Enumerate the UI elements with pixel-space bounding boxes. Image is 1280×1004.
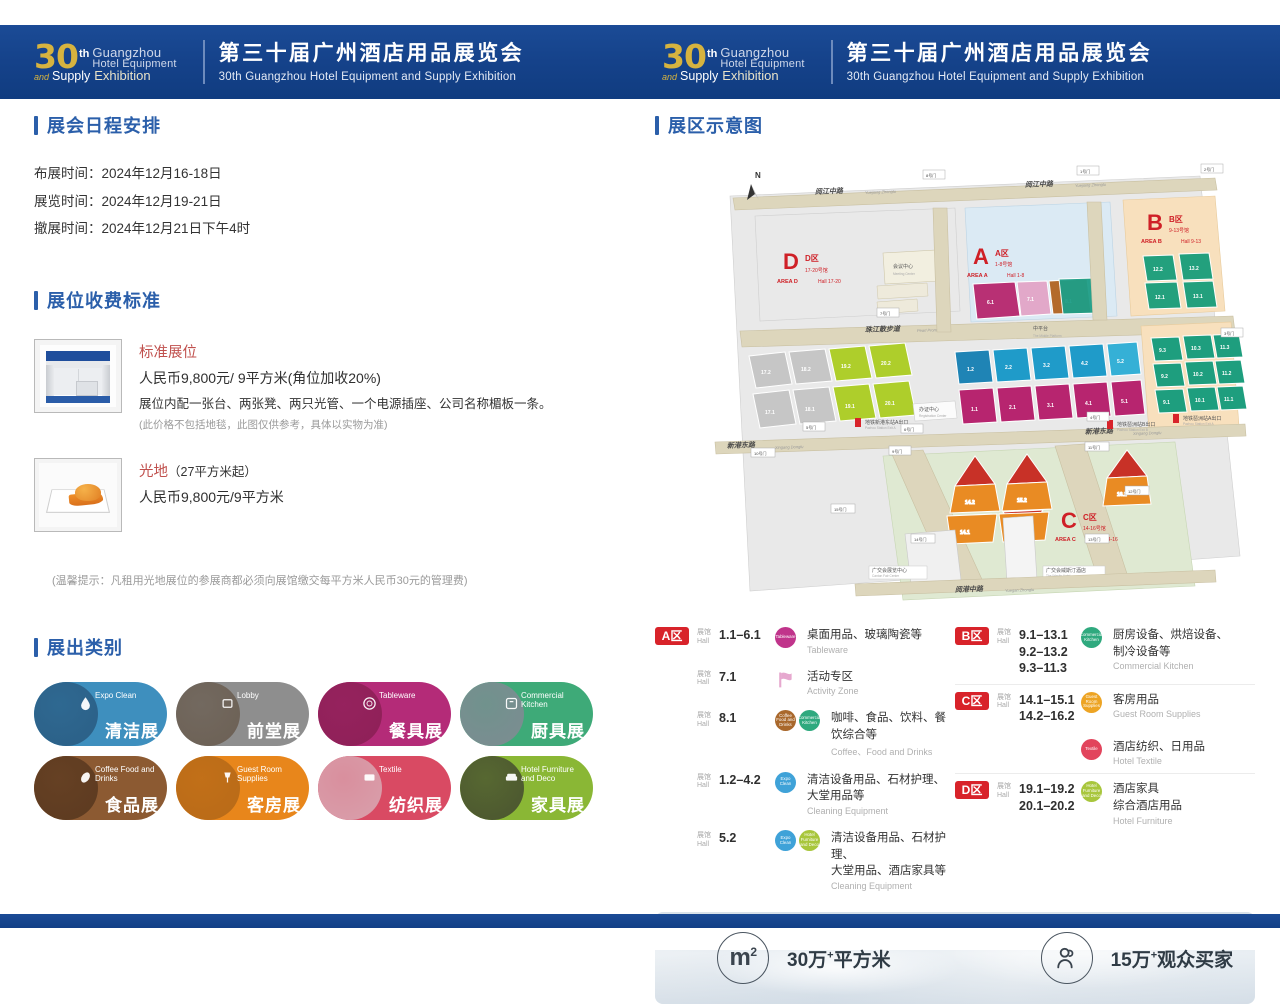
icon-label: Hotel Furniture and Deco <box>799 833 820 848</box>
hall-numbers: 9.1–13.19.2–13.29.3–11.3 <box>1019 627 1081 677</box>
gate-marker: 5号门 <box>803 422 825 431</box>
hall-legend: A区 展馆Hall 1.1–6.1 Tableware 桌面用品、玻璃陶瓷等 T… <box>655 620 1255 898</box>
landmark-canton-cn: 广交会展览中心 <box>872 567 907 574</box>
gate-marker: 7号门 <box>877 308 899 317</box>
icon-label: Expo Clean <box>775 836 796 846</box>
categories-grid: Expo Clean 清洁展 Lobby 前堂展 Tableware 餐具展 C… <box>34 682 624 820</box>
gate-marker: 1号门 <box>1077 166 1099 175</box>
hall-label: 3.1 <box>1047 403 1054 409</box>
category-tile-guestroom[interactable]: Guest Room Supplies 客房展 <box>176 756 309 820</box>
hall-label: 11.1 <box>1224 397 1234 403</box>
fees-heading: 展位收费标准 <box>34 287 624 313</box>
legend-text-en: Hotel Textile <box>1113 756 1255 766</box>
logo-word-supply: Supply <box>52 70 90 83</box>
category-label-en: Expo Clean <box>95 691 157 700</box>
header-divider <box>831 40 833 84</box>
header-divider <box>203 40 205 84</box>
category-photo <box>318 756 382 820</box>
metro-exit-en: Pazhou Station Exit A <box>865 426 897 430</box>
hall-word: 展馆Hall <box>697 830 713 850</box>
plate-icon <box>362 696 377 711</box>
hall-label: 2.2 <box>1005 365 1012 371</box>
categories-heading-text: 展出类别 <box>47 634 123 660</box>
hall-label: 10.1 <box>1195 398 1205 404</box>
hall-label: 4.2 <box>1081 361 1088 367</box>
legend-icons: Expo Clean Hotel Furniture and Deco <box>775 830 823 851</box>
category-label-en: Guest Room Supplies <box>237 765 299 783</box>
category-photo <box>176 756 240 820</box>
gate-label: 14号门 <box>914 536 926 542</box>
metro-exit-cn: 地铁琶洲站B出口 <box>1117 421 1155 428</box>
hall-label: 17.2 <box>761 370 771 376</box>
legend-text-en: Cleaning Equipment <box>831 881 955 891</box>
legend-text-cn: 清洁设备用品、石材护理、大堂用品、酒店家具等 <box>831 830 955 880</box>
legend-text-en: Guest Room Supplies <box>1113 709 1255 719</box>
category-label-en: Commercial Kitchen <box>521 691 583 709</box>
metro-exit-cn: 地铁琶洲站A出口 <box>1183 415 1221 422</box>
header-banner-left: 30 th Guangzhou Hotel Equipment and Supp… <box>0 25 640 99</box>
fee-standard-booth: 标准展位 人民币9,800元/ 9平方米(角位加收20%) 展位内配一张台、两张… <box>34 339 624 432</box>
logo-word-exhibition: Exhibition <box>94 69 150 82</box>
expo-clean-icon: Expo Clean <box>775 830 796 851</box>
fee-standard-desc: 展位内配一张台、两张凳、两只光管、一个电源插座、公司名称楣板一条。 <box>139 393 552 412</box>
stat-unit: 平方米 <box>834 950 891 971</box>
person-glyph <box>1053 944 1081 972</box>
commercial-kitchen-icon: Commercial Kitchen <box>799 710 820 731</box>
fee-raw-name-sub: （27平方米起） <box>168 465 257 479</box>
icon-label: Commercial Kitchen <box>798 716 821 726</box>
standard-booth-icon <box>34 339 122 413</box>
hall-word: 展馆Hall <box>997 627 1013 647</box>
legend-text-en: Coffee、Food and Drinks <box>831 745 955 758</box>
right-column: 展区示意图 .rd{fill:#ddd6bc;stroke:#c9c0a2;st… <box>655 112 1255 1004</box>
road-label-en: Xingang Donglu <box>774 444 804 450</box>
logo-word-and: and <box>662 73 677 82</box>
heading-accent-bar <box>655 116 659 135</box>
bed-lamp-icon <box>220 770 235 785</box>
logo-word-and: and <box>34 73 49 82</box>
logo-number: 30 <box>34 42 78 72</box>
visitor-icon <box>1041 932 1093 984</box>
hall-label: 12.1 <box>1155 295 1165 301</box>
zone-badge-empty <box>655 830 689 848</box>
gate-label: 8号门 <box>926 172 936 178</box>
legend-row: C区 展馆Hall 14.1–15.114.2–16.2 Guest Room … <box>955 684 1255 732</box>
top-white-strip <box>0 0 1280 25</box>
category-photo <box>460 682 524 746</box>
icon-label: Commercial Kitchen <box>1080 633 1103 643</box>
raw-space-icon <box>34 458 122 532</box>
gate-marker: 11号门 <box>1085 442 1109 451</box>
legend-icons: Commercial Kitchen <box>1081 627 1105 648</box>
hall-label: 10.2 <box>1193 372 1203 378</box>
hall-label: 14.2 <box>965 500 975 506</box>
stat-area-text: 30万+平方米 <box>787 945 891 972</box>
gate-label: 6号门 <box>904 426 914 432</box>
stat-value: 15万 <box>1111 950 1151 971</box>
legend-icons: Tableware <box>775 627 799 648</box>
icon-label: Guest Room Supplies <box>1081 695 1102 710</box>
logo-word-hotel-equipment: Hotel Equipment <box>720 59 804 70</box>
logo-word-supply: Supply <box>680 70 718 83</box>
area-en-A: AREA A <box>967 273 988 279</box>
logo-word-hotel-equipment: Hotel Equipment <box>92 59 176 70</box>
heading-accent-bar <box>34 116 38 135</box>
hall-numbers: 1.1–6.1 <box>719 627 775 644</box>
category-photo <box>176 682 240 746</box>
legend-text-cn: 客房用品 <box>1113 692 1255 709</box>
category-label-en: Hotel Furniture and Deco <box>521 765 583 783</box>
metro-exit-en: Pazhou Station Exit B <box>1117 428 1148 432</box>
towel-icon <box>362 770 377 785</box>
coffee-bean-icon <box>78 770 93 785</box>
category-photo <box>34 682 98 746</box>
legend-text-cn: 酒店家具综合酒店用品 <box>1113 781 1255 814</box>
hall-numbers: 19.1–19.220.1–20.2 <box>1019 781 1081 814</box>
road-label-cn: 阅江中路 <box>815 186 844 196</box>
hall-label: 11.3 <box>1220 345 1230 351</box>
category-label-cn: 纺织展 <box>389 791 443 816</box>
gate-label: 12号门 <box>1128 488 1140 494</box>
header-title-cn: 第三十届广州酒店用品展览会 <box>847 41 1153 67</box>
logo-word-exhibition: Exhibition <box>722 69 778 82</box>
icon-label: Coffee Food and Drinks <box>775 714 796 729</box>
zone-badge-empty <box>655 669 689 687</box>
hall-label: 10.3 <box>1191 346 1201 352</box>
hall-label: 7.1 <box>1027 297 1034 303</box>
kitchen-icon <box>504 696 519 711</box>
zone-badge-C: C区 <box>955 692 989 710</box>
zone-badge-A: A区 <box>655 627 689 645</box>
legend-row: 展馆Hall 1.2–4.2 Expo Clean 清洁设备用品、石材护理、大堂… <box>655 765 955 823</box>
landmark-middle-platform-cn: 中平台 <box>1033 325 1048 332</box>
landmark-middle-platform-en: The Middle Platform <box>1033 334 1062 338</box>
area-cn-C: C区 <box>1083 513 1097 522</box>
stat-visitors: 15万+观众买家 <box>1041 932 1234 984</box>
icon-label: Textile <box>1085 747 1097 752</box>
heading-accent-bar <box>34 638 38 657</box>
gate-label: 9号门 <box>892 448 902 454</box>
legend-row: D区 展馆Hall 19.1–19.220.1–20.2 Hotel Furni… <box>955 773 1255 832</box>
legend-column-left: A区 展馆Hall 1.1–6.1 Tableware 桌面用品、玻璃陶瓷等 T… <box>655 620 955 898</box>
guest-room-supplies-icon: Guest Room Supplies <box>1081 692 1102 713</box>
fee-standard-note: (此价格不包括地毯，此图仅供参考，具体以实物为准) <box>139 417 552 432</box>
header-title-en: 30th Guangzhou Hotel Equipment and Suppl… <box>219 71 525 83</box>
stat-unit: 观众买家 <box>1157 950 1233 971</box>
legend-text-en: Commercial Kitchen <box>1113 661 1255 671</box>
schedule-heading: 展会日程安排 <box>34 112 624 138</box>
gate-label: 1号门 <box>1080 168 1090 174</box>
category-label-cn: 食品展 <box>105 791 159 816</box>
schedule-item: 布展时间：2024年12月16-18日 <box>34 160 624 188</box>
category-label-en: Coffee Food and Drinks <box>95 765 157 783</box>
gate-label: 7号门 <box>880 310 890 316</box>
category-photo <box>34 756 98 820</box>
hall-label: 15.2 <box>1017 498 1027 504</box>
square-meter-icon: m2 <box>717 932 769 984</box>
legend-row: 展馆Hall 7.1 活动专区 Activity Zone <box>655 662 955 704</box>
zone-badge-B: B区 <box>955 627 989 645</box>
hall-numbers: 7.1 <box>719 669 775 686</box>
legend-text-cn: 清洁设备用品、石材护理、大堂用品等 <box>807 772 955 805</box>
area-letter-B: B <box>1147 210 1163 235</box>
gate-label: 4号门 <box>1090 414 1100 420</box>
category-label-cn: 厨具展 <box>531 717 585 742</box>
hall-label: 14.1 <box>960 530 970 536</box>
category-tile-textile[interactable]: Textile 纺织展 <box>318 756 451 820</box>
hall-numbers: 14.1–15.114.2–16.2 <box>1019 692 1081 725</box>
category-tile-clean[interactable]: Expo Clean 清洁展 <box>34 682 167 746</box>
area-halls-cn-A: 1-8号馆 <box>995 261 1012 268</box>
gate-label: 15号门 <box>834 506 846 512</box>
exhibition-logo-secondary: 30 th Guangzhou Hotel Equipment and Supp… <box>662 42 817 82</box>
hall-label: 20.1 <box>885 401 895 407</box>
legend-column-right: B区 展馆Hall 9.1–13.19.2–13.29.3–11.3 Comme… <box>955 620 1255 898</box>
legend-text-cn: 厨房设备、烘焙设备、制冷设备等 <box>1113 627 1255 660</box>
stat-value: 30万 <box>787 950 827 971</box>
logo-word-guangzhou: Guangzhou <box>92 46 176 59</box>
legend-icons: Guest Room Supplies <box>1081 692 1105 713</box>
hall-label: 17.1 <box>765 410 775 416</box>
map-heading-text: 展区示意图 <box>668 112 763 138</box>
category-label-en: Tableware <box>379 691 441 700</box>
schedule-heading-text: 展会日程安排 <box>47 112 161 138</box>
legend-text-en: Activity Zone <box>807 686 955 696</box>
gate-label: 2号门 <box>1204 166 1214 172</box>
gate-marker: 3号门 <box>1221 328 1243 337</box>
gate-marker: 9号门 <box>889 446 911 455</box>
hall-label: 20.2 <box>881 361 891 367</box>
area-cn-A: A区 <box>995 249 1009 258</box>
hall-word: 展馆Hall <box>697 669 713 689</box>
area-halls-en-A: Hall 1-8 <box>1007 273 1024 279</box>
landmark-westin-cn: 广交会威斯汀酒店 <box>1046 567 1086 574</box>
category-label-en: Lobby <box>237 691 299 700</box>
metro-exit-en: Pazhou Station Exit A <box>1183 422 1215 426</box>
tableware-icon: Tableware <box>775 627 796 648</box>
schedule-item: 展览时间：2024年12月19-21日 <box>34 188 624 216</box>
legend-text-en: Cleaning Equipment <box>807 806 955 816</box>
activity-flag-icon <box>775 669 796 690</box>
category-tile-food[interactable]: Coffee Food and Drinks 食品展 <box>34 756 167 820</box>
hall-word <box>997 739 1013 741</box>
area-en-C: AREA C <box>1055 537 1076 543</box>
area-en-D: AREA D <box>777 279 798 285</box>
zone-badge-empty <box>655 772 689 790</box>
category-tile-tableware[interactable]: Tableware 餐具展 <box>318 682 451 746</box>
fee-raw-price: 人民币9,800元/9平方米 <box>139 487 284 507</box>
hall-label: 1.2 <box>967 367 974 373</box>
logo-number: 30 <box>662 42 706 72</box>
legend-icons: Hotel Furniture and Deco <box>1081 781 1105 802</box>
stat-area: m2 30万+平方米 <box>717 932 891 984</box>
legend-row: 展馆Hall 5.2 Expo Clean Hotel Furniture an… <box>655 823 955 898</box>
area-cn-D: D区 <box>805 254 819 263</box>
hall-label: 9.3 <box>1159 348 1166 354</box>
legend-text-en: Hotel Furniture <box>1113 816 1255 826</box>
fee-tip-note: (温馨提示：凡租用光地展位的参展商都必须向展馆缴交每平方米人民币30元的管理费) <box>52 572 624 588</box>
footer-blue-bar <box>0 914 1280 928</box>
landmark-registration-cn: 办证中心 <box>919 406 939 413</box>
area-halls-cn-C: 14-16号馆 <box>1083 525 1106 532</box>
gate-marker: 14号门 <box>911 534 935 543</box>
gate-marker: 8号门 <box>923 170 945 179</box>
landmark-meeting-center-cn: 会议中心 <box>893 263 913 270</box>
landmark-canton-fair: 广交会展览中心 Canton Fair Center <box>869 566 927 579</box>
legend-row: B区 展馆Hall 9.1–13.19.2–13.29.3–11.3 Comme… <box>955 620 1255 684</box>
gate-marker: 12号门 <box>1125 486 1149 495</box>
hall-label: 2.1 <box>1009 405 1016 411</box>
hall-numbers: 5.2 <box>719 830 775 847</box>
hall-label: 5.2 <box>1117 359 1124 365</box>
gate-label: 13号门 <box>1088 536 1100 542</box>
legend-row: Textile 酒店纺织、日用品 Hotel Textile <box>955 732 1255 774</box>
category-label-en: Textile <box>379 765 441 774</box>
luggage-cart-icon <box>220 696 235 711</box>
gate-label: 10号门 <box>754 450 766 456</box>
stat-visitors-text: 15万+观众买家 <box>1111 945 1234 972</box>
header-title-cn: 第三十届广州酒店用品展览会 <box>219 41 525 67</box>
gate-marker: 6号门 <box>901 424 923 433</box>
landmark-canton-en: Canton Fair Center <box>872 574 900 578</box>
legend-icons: Expo Clean <box>775 772 799 793</box>
category-tile-furniture[interactable]: Hotel Furniture and Deco 家具展 <box>460 756 593 820</box>
compass-label: N <box>755 171 761 180</box>
hall-numbers: 1.2–4.2 <box>719 772 775 789</box>
area-letter-C: C <box>1061 508 1077 533</box>
zone-badge-empty <box>655 710 689 728</box>
fee-raw-name: 光地（27平方米起） <box>139 460 284 481</box>
header-banner-right: 30 th Guangzhou Hotel Equipment and Supp… <box>640 25 1280 99</box>
hall-label: 19.2 <box>841 364 851 370</box>
stat-sup: 2 <box>750 945 756 959</box>
hall-word: 展馆Hall <box>697 710 713 730</box>
coffee-icon: Coffee Food and Drinks <box>775 710 796 731</box>
category-photo <box>460 756 524 820</box>
hall-word: 展馆Hall <box>697 772 713 792</box>
legend-text-en: Tableware <box>807 645 955 655</box>
area-letter-D: D <box>783 249 799 274</box>
logo-word-guangzhou: Guangzhou <box>720 46 804 59</box>
legend-text-cn: 活动专区 <box>807 669 955 686</box>
hall-label: 5.1 <box>1121 399 1128 405</box>
gate-marker: 4号门 <box>1087 412 1109 421</box>
icon-label: Expo Clean <box>775 777 796 787</box>
category-label-cn: 餐具展 <box>389 717 443 742</box>
hall-label: 3.2 <box>1043 363 1050 369</box>
hall-label: 19.1 <box>845 404 855 410</box>
logo-ordinal: th <box>707 49 717 60</box>
hall-word: 展馆Hall <box>997 781 1013 801</box>
fee-standard-name: 标准展位 <box>139 341 552 362</box>
hall-label: 13.2 <box>1189 266 1199 272</box>
gate-label: 5号门 <box>806 424 816 430</box>
icon-label: Tableware <box>775 635 795 640</box>
hall-label: 18.1 <box>805 407 815 413</box>
category-photo <box>318 682 382 746</box>
commercial-kitchen-icon: Commercial Kitchen <box>1081 627 1102 648</box>
map-heading: 展区示意图 <box>655 112 1255 138</box>
area-halls-cn-B: 9-13号馆 <box>1169 227 1189 234</box>
area-cn-B: B区 <box>1169 215 1183 224</box>
water-drop-icon <box>78 696 93 711</box>
schedule-item: 撤展时间：2024年12月21日下午4时 <box>34 215 624 243</box>
hotel-furniture-icon: Hotel Furniture and Deco <box>1081 781 1102 802</box>
floor-plan-map[interactable]: .rd{fill:#ddd6bc;stroke:#c9c0a2;stroke-w… <box>655 156 1255 606</box>
hall-numbers: 8.1 <box>719 710 775 727</box>
exhibition-logo: 30 th Guangzhou Hotel Equipment and Supp… <box>34 42 189 82</box>
landmark-meeting-center-en: Meeting Center <box>893 272 916 276</box>
legend-icons: Textile <box>1081 739 1105 760</box>
gate-marker: 2号门 <box>1201 164 1223 173</box>
hall-label: 9.1 <box>1163 400 1170 406</box>
fee-raw-space: 光地（27平方米起） 人民币9,800元/9平方米 <box>34 458 624 532</box>
hall-label: 12.2 <box>1153 267 1163 273</box>
area-letter-A: A <box>973 244 989 269</box>
fees-heading-text: 展位收费标准 <box>47 287 161 313</box>
area-en-B: AREA B <box>1141 239 1162 245</box>
category-label-cn: 前堂展 <box>247 717 301 742</box>
area-halls-en-D: Hall 17-20 <box>818 279 841 285</box>
header-title-en: 30th Guangzhou Hotel Equipment and Suppl… <box>847 71 1153 83</box>
hall-label: 13.1 <box>1193 294 1203 300</box>
landmark-registration-en: Registration Center <box>919 414 947 418</box>
gate-marker: 13号门 <box>1085 534 1109 543</box>
schedule-list: 布展时间：2024年12月16-18日 展览时间：2024年12月19-21日 … <box>34 160 624 243</box>
sofa-icon <box>504 770 519 785</box>
area-halls-en-B: Hall 9-13 <box>1181 239 1201 245</box>
hall-label: 18.2 <box>801 367 811 373</box>
legend-text-cn: 酒店纺织、日用品 <box>1113 739 1255 756</box>
hall-label: 9.2 <box>1161 374 1168 380</box>
legend-icons: Coffee Food and Drinks Commercial Kitche… <box>775 710 823 731</box>
legend-icons <box>775 669 799 690</box>
category-label-cn: 客房展 <box>247 791 301 816</box>
category-tile-lobby[interactable]: Lobby 前堂展 <box>176 682 309 746</box>
hall-label: 11.2 <box>1222 371 1232 377</box>
hall-label: 6.1 <box>987 300 994 306</box>
zone-badge-D: D区 <box>955 781 989 799</box>
hotel-textile-icon: Textile <box>1081 739 1102 760</box>
category-tile-kitchen[interactable]: Commercial Kitchen 厨具展 <box>460 682 593 746</box>
gate-label: 11号门 <box>1088 444 1100 450</box>
legend-row: A区 展馆Hall 1.1–6.1 Tableware 桌面用品、玻璃陶瓷等 T… <box>655 620 955 662</box>
hall-word: 展馆Hall <box>997 692 1013 712</box>
gate-label: 3号门 <box>1224 330 1234 336</box>
floor-plan-svg: .rd{fill:#ddd6bc;stroke:#c9c0a2;stroke-w… <box>655 156 1255 606</box>
fee-raw-name-text: 光地 <box>139 464 168 480</box>
categories-heading: 展出类别 <box>34 634 624 660</box>
legend-row: 展馆Hall 8.1 Coffee Food and Drinks Commer… <box>655 703 955 764</box>
legend-text-cn: 桌面用品、玻璃陶瓷等 <box>807 627 955 644</box>
category-label-cn: 清洁展 <box>105 717 159 742</box>
legend-text-cn: 咖啡、食品、饮料、餐饮综合等 <box>831 710 955 743</box>
heading-accent-bar <box>34 291 38 310</box>
road-label-cn: 阅江中路 <box>1025 179 1054 189</box>
icon-label: Hotel Furniture and Deco <box>1081 784 1102 799</box>
zone-badge-empty <box>955 739 989 757</box>
hall-word: 展馆Hall <box>697 627 713 647</box>
expo-clean-icon: Expo Clean <box>775 772 796 793</box>
fee-standard-price: 人民币9,800元/ 9平方米(角位加收20%) <box>139 368 552 388</box>
area-halls-cn-D: 17-20号馆 <box>805 267 828 274</box>
gate-marker: 15号门 <box>831 504 855 513</box>
page-header: 30 th Guangzhou Hotel Equipment and Supp… <box>0 25 1280 99</box>
stat-symbol: m <box>729 944 750 971</box>
hall-label: 1.1 <box>971 407 978 413</box>
gate-marker: 10号门 <box>751 448 775 457</box>
left-column: 展会日程安排 布展时间：2024年12月16-18日 展览时间：2024年12月… <box>34 112 624 820</box>
